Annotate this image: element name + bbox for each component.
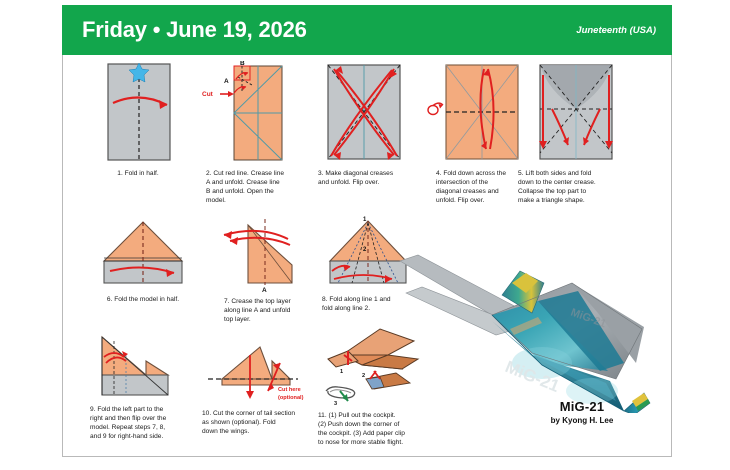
instructions-area: 1. Fold in half. B A Cut 2. Cut red line… (62, 55, 672, 457)
step-9: 9. Fold the left part to the right and t… (84, 331, 209, 441)
step-3: 3. Make diagonal creases and unfold. Fli… (314, 61, 414, 187)
step-6-diagram (88, 217, 198, 289)
step-2-diagram: B A Cut (196, 61, 306, 163)
step-11-label-3: 3 (334, 401, 337, 407)
step-5-caption: 5. Lift both sides and fold down to the … (514, 169, 634, 205)
step-9-caption: 9. Fold the left part to the right and t… (84, 405, 209, 441)
step-2: B A Cut 2. Cut red line. Crease line A a… (196, 61, 306, 205)
model-designer: by Kyong H. Lee (517, 416, 647, 425)
mig21-paper-plane-photo: MiG-21 MiG-21 (392, 243, 662, 413)
step-10: Cut here (optional) 10. Cut the corner o… (202, 339, 337, 436)
step-10-caption: 10. Cut the corner of tail section as sh… (202, 409, 337, 436)
step-2-caption: 2. Cut red line. Crease line A and unfol… (196, 169, 306, 205)
step-6: 6. Fold the model in half. (88, 217, 198, 304)
step-1-caption: 1. Fold in half. (88, 169, 188, 178)
step-3-caption: 3. Make diagonal creases and unfold. Fli… (314, 169, 414, 187)
step-7: A 7. Crease the top layer along line A a… (210, 213, 320, 324)
calendar-header: Friday • June 19, 2026 Juneteenth (USA) (62, 5, 672, 55)
page-title: Friday • June 19, 2026 (82, 17, 307, 43)
photo-caption-block: MiG-21 by Kyong H. Lee (517, 399, 647, 425)
step-2-label-cut: Cut (202, 91, 214, 98)
step-1-diagram (88, 61, 188, 163)
step-5: 5. Lift both sides and fold down to the … (514, 61, 634, 205)
step-10-diagram: Cut here (optional) (202, 339, 337, 405)
holiday-label: Juneteenth (USA) (576, 25, 656, 36)
step-7-diagram: A (210, 213, 320, 293)
step-10-label-optional: (optional) (278, 395, 304, 401)
step-9-diagram (84, 331, 209, 401)
step-11-label-2: 2 (362, 373, 365, 379)
step-3-diagram (314, 61, 414, 163)
model-name: MiG-21 (517, 399, 647, 414)
step-7-label-a: A (262, 287, 267, 293)
step-10-label-cut-here: Cut here (278, 387, 301, 393)
step-2-label-a: A (224, 78, 229, 85)
step-2-label-b: B (240, 61, 245, 67)
step-11-label-1: 1 (340, 369, 343, 375)
model-photo: MiG-21 MiG-21 MiG-21 by Kyong H. Lee (392, 243, 662, 418)
step-6-caption: 6. Fold the model in half. (88, 295, 198, 304)
step-1: 1. Fold in half. (88, 61, 188, 178)
step-5-diagram (514, 61, 634, 163)
step-7-caption: 7. Crease the top layer along line A and… (210, 297, 320, 324)
